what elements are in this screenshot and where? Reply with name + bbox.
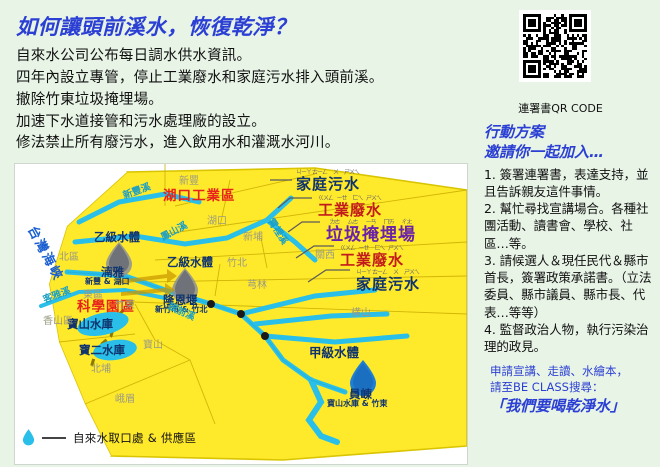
callout-char: ㄐㄧㄚ家: [296, 170, 311, 192]
callout-industrial-waste-top: ㄍㄨㄥ工ㄧㄝ業ㄈㄟ廢ㄕㄨㄟ水: [318, 196, 382, 218]
callout-char: ㄨ污: [388, 270, 403, 292]
poster-root: 如何讓頭前溪水，恢復乾淨？ 自來水公司公布每日調水供水資訊。 四年內設立專管，停…: [0, 0, 660, 467]
callout-base-char: 掩: [362, 227, 379, 244]
map-legend: 自來水取口處 & 供應區: [22, 429, 196, 446]
callout-base-char: 污: [328, 177, 343, 192]
callout-char: ㄌㄜ垃: [326, 220, 343, 244]
action-plan-item: 2. 幫忙尋找宣講場合。各種社團活動、讀書會、學校、社區…等。: [484, 200, 656, 252]
demand-item: 加速下水道接管和污水處理廠的設立。: [16, 112, 446, 134]
headline-block: 如何讓頭前溪水，恢復乾淨？ 自來水公司公布每日調水供水資訊。 四年內設立專管，停…: [16, 14, 446, 155]
callout-base-char: 垃: [326, 227, 343, 244]
callout-landfill: ㄌㄜ垃ㄙㄜ圾ㄧㄢ掩ㄇㄞ埋ㄔㄤ場: [326, 220, 416, 244]
action-plan-block: 行動方案 邀請你一起加入… 1. 簽署連署書，表達支持，並且告訴親友這件事情。 …: [484, 122, 656, 416]
callout-char: ㄕㄨㄟ水: [366, 196, 381, 218]
legend-label: 自來水取口處 & 供應區: [73, 430, 196, 446]
callout-base-char: 工: [318, 203, 333, 218]
callout-base-char: 家: [296, 177, 311, 192]
callout-char: ㄨ污: [328, 170, 343, 192]
callout-char: ㄕㄨㄟ水: [344, 170, 359, 192]
callout-base-char: 庭: [312, 177, 327, 192]
callout-char: ㄈㄟ廢: [372, 246, 387, 268]
action-plan-title-line1: 行動方案: [484, 123, 544, 141]
callout-base-char: 場: [398, 227, 415, 244]
apply-line-1: 申請宣講、走讀、水繪本，: [490, 364, 656, 380]
demand-item: 自來水公司公布每日調水供水資訊。: [16, 46, 446, 68]
demand-item: 修法禁止所有廢污水，進入飲用水和灌溉水河川。: [16, 133, 446, 155]
demand-item: 撤除竹東垃圾掩埋場。: [16, 90, 446, 112]
callout-base-char: 圾: [344, 227, 361, 244]
callout-char: ㄊㄧㄥ庭: [312, 170, 327, 192]
callout-base-char: 埋: [380, 227, 397, 244]
callout-char: ㄊㄧㄥ庭: [372, 270, 387, 292]
callout-char: ㄈㄟ廢: [350, 196, 365, 218]
callout-base-char: 庭: [372, 277, 387, 292]
callout-char: ㄙㄜ圾: [344, 220, 361, 244]
qr-caption: 連署書QR CODE: [488, 100, 633, 116]
callout-base-char: 工: [340, 253, 355, 268]
callout-base-char: 水: [404, 277, 419, 292]
callout-base-char: 水: [344, 177, 359, 192]
demand-item: 四年內設立專管，停止工業廢水和家庭污水排入頭前溪。: [16, 68, 446, 90]
callout-base-char: 業: [356, 253, 371, 268]
callout-char: ㄕㄨㄟ水: [404, 270, 419, 292]
callout-char: ㄇㄞ埋: [380, 220, 397, 244]
callout-char: ㄧㄢ掩: [362, 220, 379, 244]
callout-base-char: 廢: [372, 253, 387, 268]
callout-household-sewage-top: ㄐㄧㄚ家ㄊㄧㄥ庭ㄨ污ㄕㄨㄟ水: [296, 170, 360, 192]
action-plan-title: 行動方案 邀請你一起加入…: [484, 122, 656, 163]
qr-code-block[interactable]: [519, 10, 599, 82]
callout-household-sewage-bottom: ㄐㄧㄚ家ㄊㄧㄥ庭ㄨ污ㄕㄨㄟ水: [356, 270, 420, 292]
callout-char: ㄍㄨㄥ工: [318, 196, 333, 218]
callout-char: ㄧㄝ業: [356, 246, 371, 268]
pollution-callouts: ㄐㄧㄚ家ㄊㄧㄥ庭ㄨ污ㄕㄨㄟ水 ㄍㄨㄥ工ㄧㄝ業ㄈㄟ廢ㄕㄨㄟ水 ㄌㄜ垃ㄙㄜ圾ㄧㄢ掩ㄇ…: [286, 170, 466, 290]
action-plan-title-line2: 邀請你一起加入…: [484, 142, 656, 162]
page-title: 如何讓頭前溪水，恢復乾淨？: [16, 14, 446, 40]
legend-line-swatch: [42, 437, 66, 439]
action-plan-item: 3. 請候選人＆現任民代＆縣市首長，簽署政策承諾書。（立法委員、縣市議員、縣市長…: [484, 252, 656, 321]
callout-industrial-waste-bottom: ㄍㄨㄥ工ㄧㄝ業ㄈㄟ廢ㄕㄨㄟ水: [340, 246, 404, 268]
action-plan-footer: 申請宣講、走讀、水繪本， 請至BE CLASS搜尋： 「我們要喝乾淨水」: [484, 364, 656, 416]
apply-line-2: 請至BE CLASS搜尋：: [490, 380, 656, 396]
campaign-slogan: 「我們要喝乾淨水」: [490, 397, 656, 417]
callout-base-char: 業: [334, 203, 349, 218]
callout-char: ㄍㄨㄥ工: [340, 246, 355, 268]
callout-char: ㄔㄤ場: [398, 220, 415, 244]
callout-base-char: 水: [366, 203, 381, 218]
callout-char: ㄧㄝ業: [334, 196, 349, 218]
callout-base-char: 廢: [350, 203, 365, 218]
action-plan-item: 1. 簽署連署書，表達支持，並且告訴親友這件事情。: [484, 166, 656, 201]
callout-base-char: 家: [356, 277, 371, 292]
action-plan-list: 1. 簽署連署書，表達支持，並且告訴親友這件事情。 2. 幫忙尋找宣講場合。各種…: [484, 166, 656, 356]
action-plan-item: 4. 監督政治人物，執行污染治理的政見。: [484, 321, 656, 356]
callout-base-char: 污: [388, 277, 403, 292]
demand-list: 自來水公司公布每日調水供水資訊。 四年內設立專管，停止工業廢水和家庭污水排入頭前…: [16, 46, 446, 155]
callout-char: ㄐㄧㄚ家: [356, 270, 371, 292]
callout-base-char: 水: [388, 253, 403, 268]
qr-code-icon[interactable]: [519, 10, 591, 82]
water-drop-icon: [22, 429, 35, 446]
callout-char: ㄕㄨㄟ水: [388, 246, 403, 268]
